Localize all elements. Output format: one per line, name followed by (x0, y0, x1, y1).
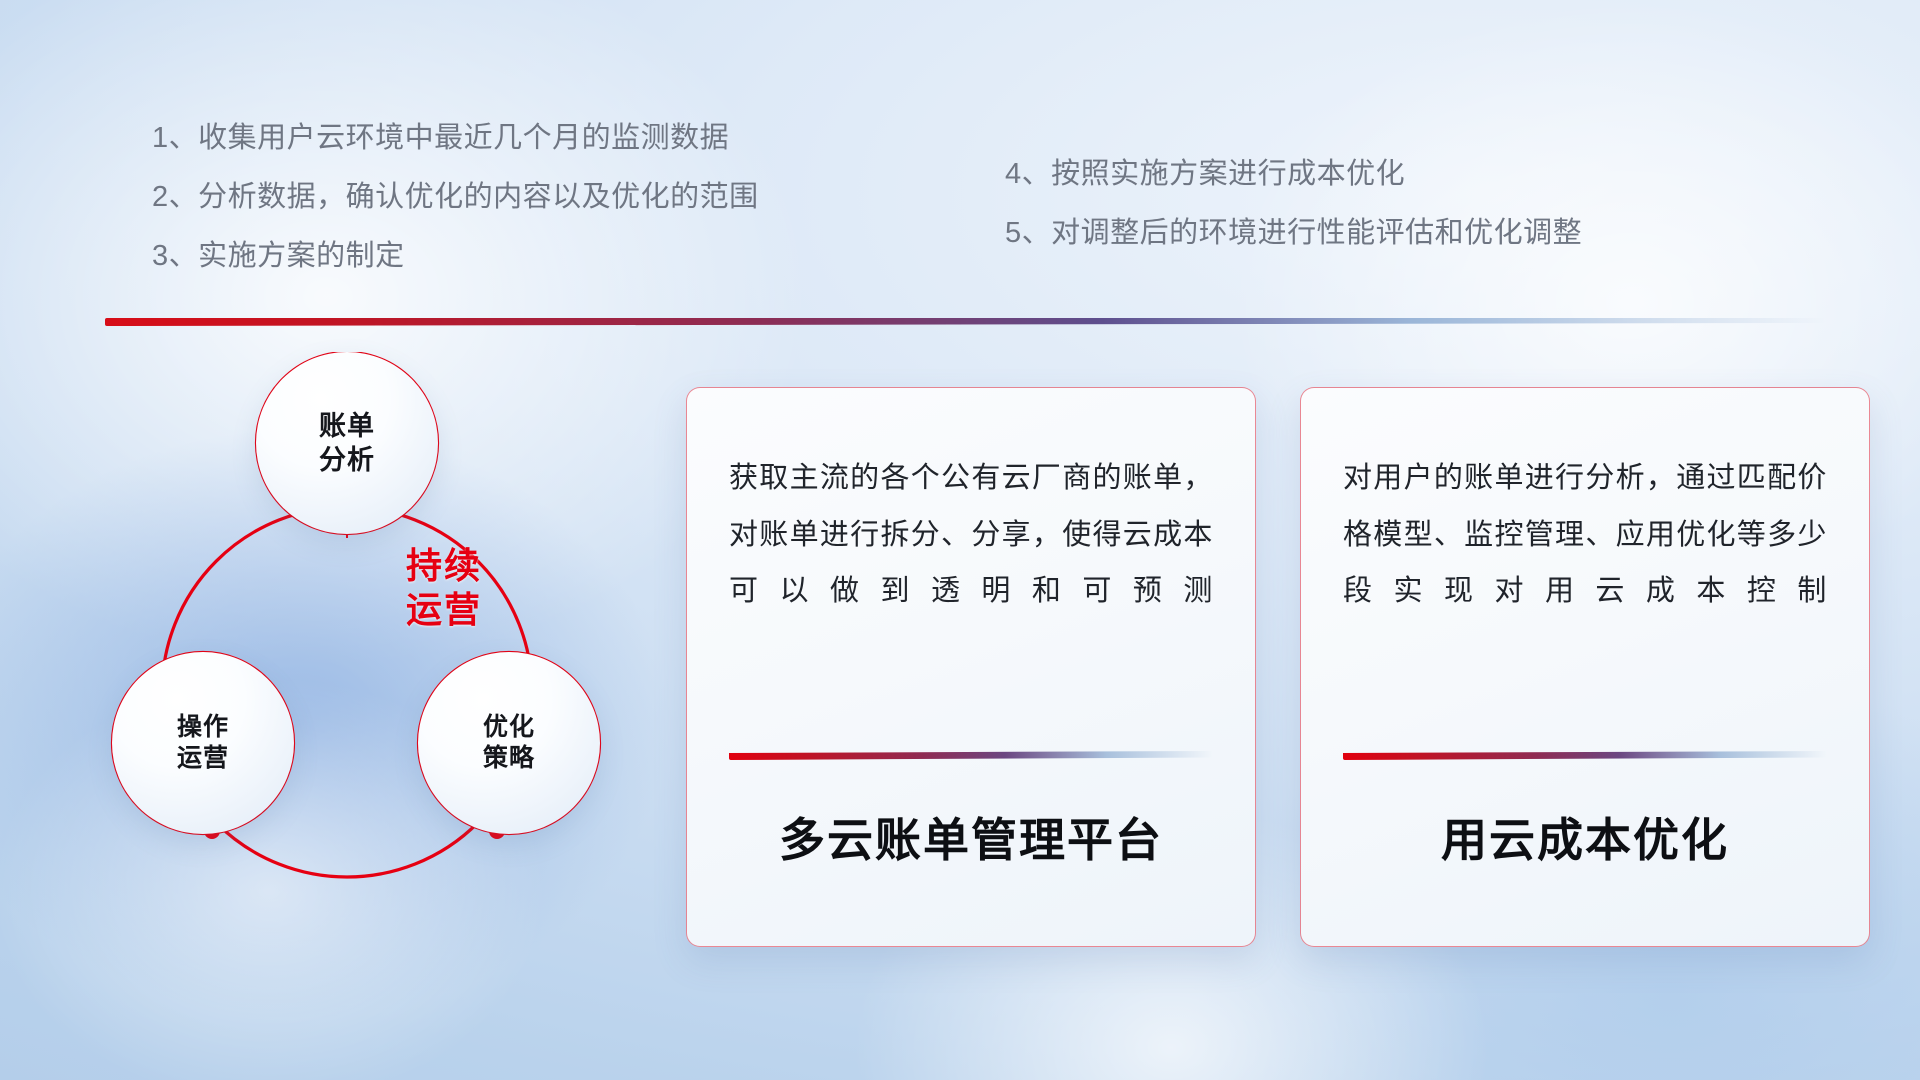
venn-node-operations[interactable]: 操作 运营 (112, 652, 294, 834)
step-item-3: 3、实施方案的制定 (152, 242, 759, 271)
venn-center-label-line2: 运营 (354, 588, 534, 632)
venn-node-bill-analysis-line2: 分析 (319, 443, 375, 477)
card-cost-optimization[interactable]: 对用户的账单进行分析，通过匹配价格模型、监控管理、应用优化等多少段实现对用云成本… (1300, 387, 1870, 947)
venn-node-operations-line1: 操作 (177, 712, 229, 744)
venn-node-bill-analysis[interactable]: 账单 分析 (256, 352, 438, 534)
venn-diagram: 账单 分析 操作 运营 优化 策略 持续 运营 (96, 352, 656, 932)
card-multicloud-billing-title: 多云账单管理平台 (687, 804, 1255, 870)
venn-node-strategy-line2: 策略 (483, 743, 535, 775)
venn-node-bill-analysis-line1: 账单 (319, 409, 375, 443)
venn-node-strategy[interactable]: 优化 策略 (418, 652, 600, 834)
step-item-5: 5、对调整后的环境进行性能评估和优化调整 (1005, 219, 1582, 248)
card-cost-optimization-body: 对用户的账单进行分析，通过匹配价格模型、监控管理、应用优化等多少段实现对用云成本… (1343, 450, 1827, 620)
steps-list-left: 1、收集用户云环境中最近几个月的监测数据 2、分析数据，确认优化的内容以及优化的… (152, 124, 759, 271)
step-item-4: 4、按照实施方案进行成本优化 (1005, 160, 1582, 189)
steps-list-right: 4、按照实施方案进行成本优化 5、对调整后的环境进行性能评估和优化调整 (1005, 160, 1582, 248)
step-item-2: 2、分析数据，确认优化的内容以及优化的范围 (152, 183, 759, 212)
venn-node-operations-line2: 运营 (177, 743, 229, 775)
venn-node-strategy-line1: 优化 (483, 712, 535, 744)
card-multicloud-billing[interactable]: 获取主流的各个公有云厂商的账单，对账单进行拆分、分享，使得云成本可以做到透明和可… (686, 387, 1256, 947)
venn-center-label: 持续 运营 (354, 544, 534, 632)
card-multicloud-billing-body: 获取主流的各个公有云厂商的账单，对账单进行拆分、分享，使得云成本可以做到透明和可… (729, 450, 1213, 620)
card-cost-optimization-rule (1343, 751, 1827, 760)
card-cost-optimization-title: 用云成本优化 (1301, 804, 1869, 870)
card-multicloud-billing-rule (729, 751, 1213, 760)
step-item-1: 1、收集用户云环境中最近几个月的监测数据 (152, 124, 759, 153)
venn-center-label-line1: 持续 (354, 544, 534, 588)
